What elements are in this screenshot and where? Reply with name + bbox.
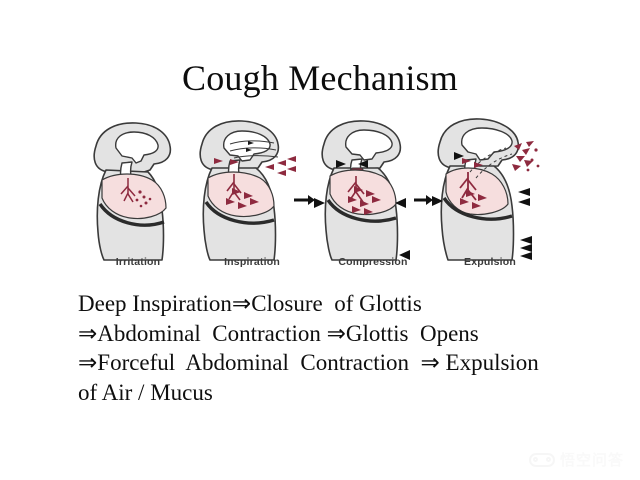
slide: Cough Mechanism xyxy=(0,0,640,480)
irritation-illustration xyxy=(86,114,190,266)
page-title: Cough Mechanism xyxy=(0,58,640,98)
body-line-1: Deep Inspiration⇒Closure of Glottis xyxy=(78,289,598,319)
body-text-block: Deep Inspiration⇒Closure of Glottis ⇒Abd… xyxy=(78,289,598,407)
expulsion-illustration xyxy=(432,114,548,266)
diagram-panels: Irritation xyxy=(86,114,548,266)
panel-caption: Expulsion xyxy=(432,256,548,268)
body-line-2: ⇒Abdominal Contraction ⇒Glottis Opens xyxy=(78,319,598,349)
diagram-panel-expulsion: Expulsion xyxy=(432,114,548,266)
panel-caption: Irritation xyxy=(86,256,190,268)
body-line-4: of Air / Mucus xyxy=(78,378,598,408)
cough-mechanism-diagram: Irritation xyxy=(86,114,548,266)
diagram-panel-irritation: Irritation xyxy=(86,114,190,266)
diagram-panel-compression: Compression xyxy=(314,114,432,266)
body-line-3: ⇒Forceful Abdominal Contraction ⇒ Expuls… xyxy=(78,348,598,378)
compression-illustration xyxy=(314,114,432,266)
diagram-panel-inspiration: Inspiration xyxy=(190,114,314,266)
stage-transition-arrow xyxy=(414,195,433,205)
watermark: 悟空问答 xyxy=(529,449,624,470)
watermark-logo-icon xyxy=(529,453,555,467)
panel-caption: Inspiration xyxy=(190,256,314,268)
watermark-text: 悟空问答 xyxy=(560,449,624,470)
panel-caption: Compression xyxy=(314,256,432,268)
stage-transition-arrow xyxy=(294,195,315,205)
inspiration-illustration xyxy=(190,114,314,266)
